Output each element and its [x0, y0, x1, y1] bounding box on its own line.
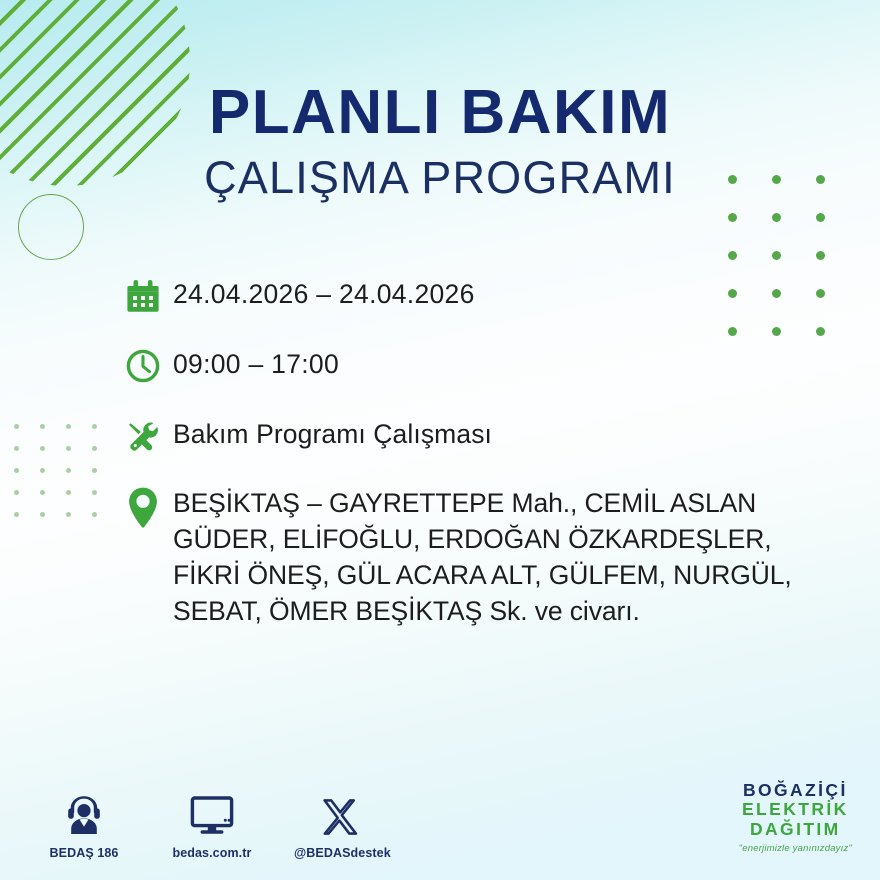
- dot: [14, 424, 19, 429]
- map-pin-icon: [113, 482, 173, 530]
- dot: [92, 424, 97, 429]
- clock-icon: [113, 342, 173, 390]
- footer-label-website: bedas.com.tr: [166, 846, 258, 860]
- footer-item-x-social[interactable]: @BEDASdestek: [294, 791, 386, 860]
- footer-contacts: BEDAŞ 186 bedas.com.tr @BEDASdestek: [38, 791, 386, 860]
- info-row-date: 24.04.2026 – 24.04.2026: [113, 272, 840, 320]
- dot: [40, 424, 45, 429]
- dot: [66, 468, 71, 473]
- footer-label-call-center: BEDAŞ 186: [38, 846, 130, 860]
- brand-tagline: "enerjimizle yanınızdayız": [739, 843, 852, 854]
- dot: [772, 213, 781, 222]
- dot: [14, 490, 19, 495]
- footer-item-call-center[interactable]: BEDAŞ 186: [38, 791, 130, 860]
- dot-grid-left-decoration: [14, 424, 118, 534]
- dot: [816, 251, 825, 260]
- dot: [92, 468, 97, 473]
- x-twitter-icon: [294, 791, 386, 837]
- dot: [66, 512, 71, 517]
- calendar-icon: [113, 272, 173, 320]
- dot: [66, 446, 71, 451]
- tools-icon: [113, 412, 173, 460]
- dot: [92, 490, 97, 495]
- dot: [772, 251, 781, 260]
- dot: [92, 446, 97, 451]
- dot: [40, 446, 45, 451]
- brand-line-bogazici: BOĞAZİÇİ: [739, 781, 852, 801]
- maintenance-info-block: 24.04.2026 – 24.04.2026 09:00 – 17:00 Ba…: [113, 272, 840, 629]
- page-subtitle: ÇALIŞMA PROGRAMI: [0, 155, 880, 200]
- dot: [66, 490, 71, 495]
- info-row-time: 09:00 – 17:00: [113, 342, 840, 390]
- info-row-location: BEŞİKTAŞ – GAYRETTEPE Mah., CEMİL ASLAN …: [113, 482, 840, 629]
- brand-logo: BOĞAZİÇİ ELEKTRİK DAĞITIM "enerjimizle y…: [739, 781, 852, 854]
- page-header: PLANLI BAKIM ÇALIŞMA PROGRAMI: [0, 82, 880, 200]
- dot: [66, 424, 71, 429]
- dot: [40, 468, 45, 473]
- dot: [40, 512, 45, 517]
- maintenance-time: 09:00 – 17:00: [173, 342, 339, 378]
- dot: [728, 251, 737, 260]
- dot: [14, 468, 19, 473]
- info-row-work-type: Bakım Programı Çalışması: [113, 412, 840, 460]
- page-title: PLANLI BAKIM: [0, 82, 880, 144]
- dot: [14, 512, 19, 517]
- headset-support-icon: [38, 791, 130, 837]
- footer-item-website[interactable]: bedas.com.tr: [166, 791, 258, 860]
- circle-outline-decoration: [18, 194, 84, 260]
- dot: [92, 512, 97, 517]
- maintenance-date: 24.04.2026 – 24.04.2026: [173, 272, 475, 308]
- maintenance-location: BEŞİKTAŞ – GAYRETTEPE Mah., CEMİL ASLAN …: [173, 482, 840, 629]
- dot: [14, 446, 19, 451]
- maintenance-work-type: Bakım Programı Çalışması: [173, 412, 492, 448]
- footer-label-x-social: @BEDASdestek: [294, 846, 386, 860]
- dot: [816, 213, 825, 222]
- dot: [40, 490, 45, 495]
- brand-line-dagitim: DAĞITIM: [739, 820, 852, 840]
- dot: [728, 213, 737, 222]
- brand-line-elektrik: ELEKTRİK: [739, 800, 852, 820]
- monitor-icon: [166, 791, 258, 837]
